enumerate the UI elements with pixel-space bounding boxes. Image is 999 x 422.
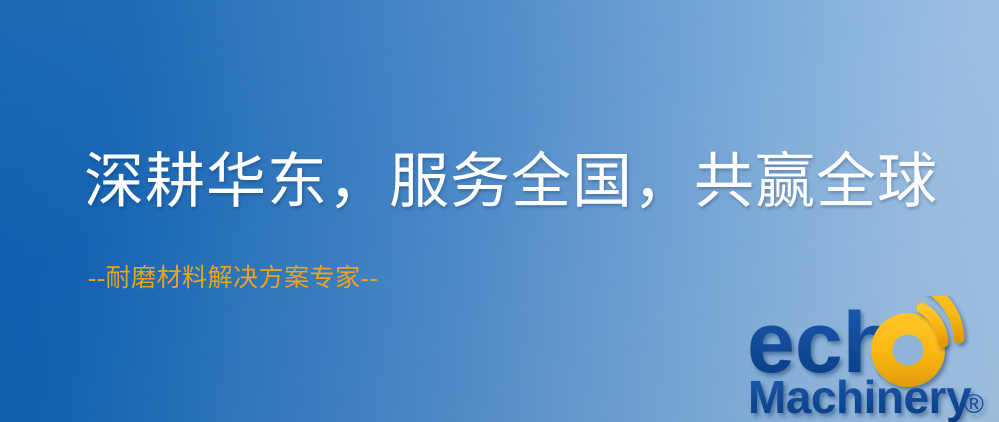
logo-text-machinery: Machinery: [748, 371, 972, 422]
hero-banner: 深耕华东，服务全国，共赢全球 --耐磨材料解决方案专家--: [0, 0, 999, 422]
banner-headline: 深耕华东，服务全国，共赢全球: [84, 152, 938, 212]
logo-tagline-group: Machinery ®: [748, 371, 984, 422]
registered-trademark-icon: ®: [964, 389, 984, 419]
banner-subtitle: --耐磨材料解决方案专家--: [88, 266, 378, 291]
echo-machinery-logo[interactable]: ech Machinery ®: [744, 296, 999, 422]
logo-svg: ech Machinery ®: [744, 296, 999, 422]
